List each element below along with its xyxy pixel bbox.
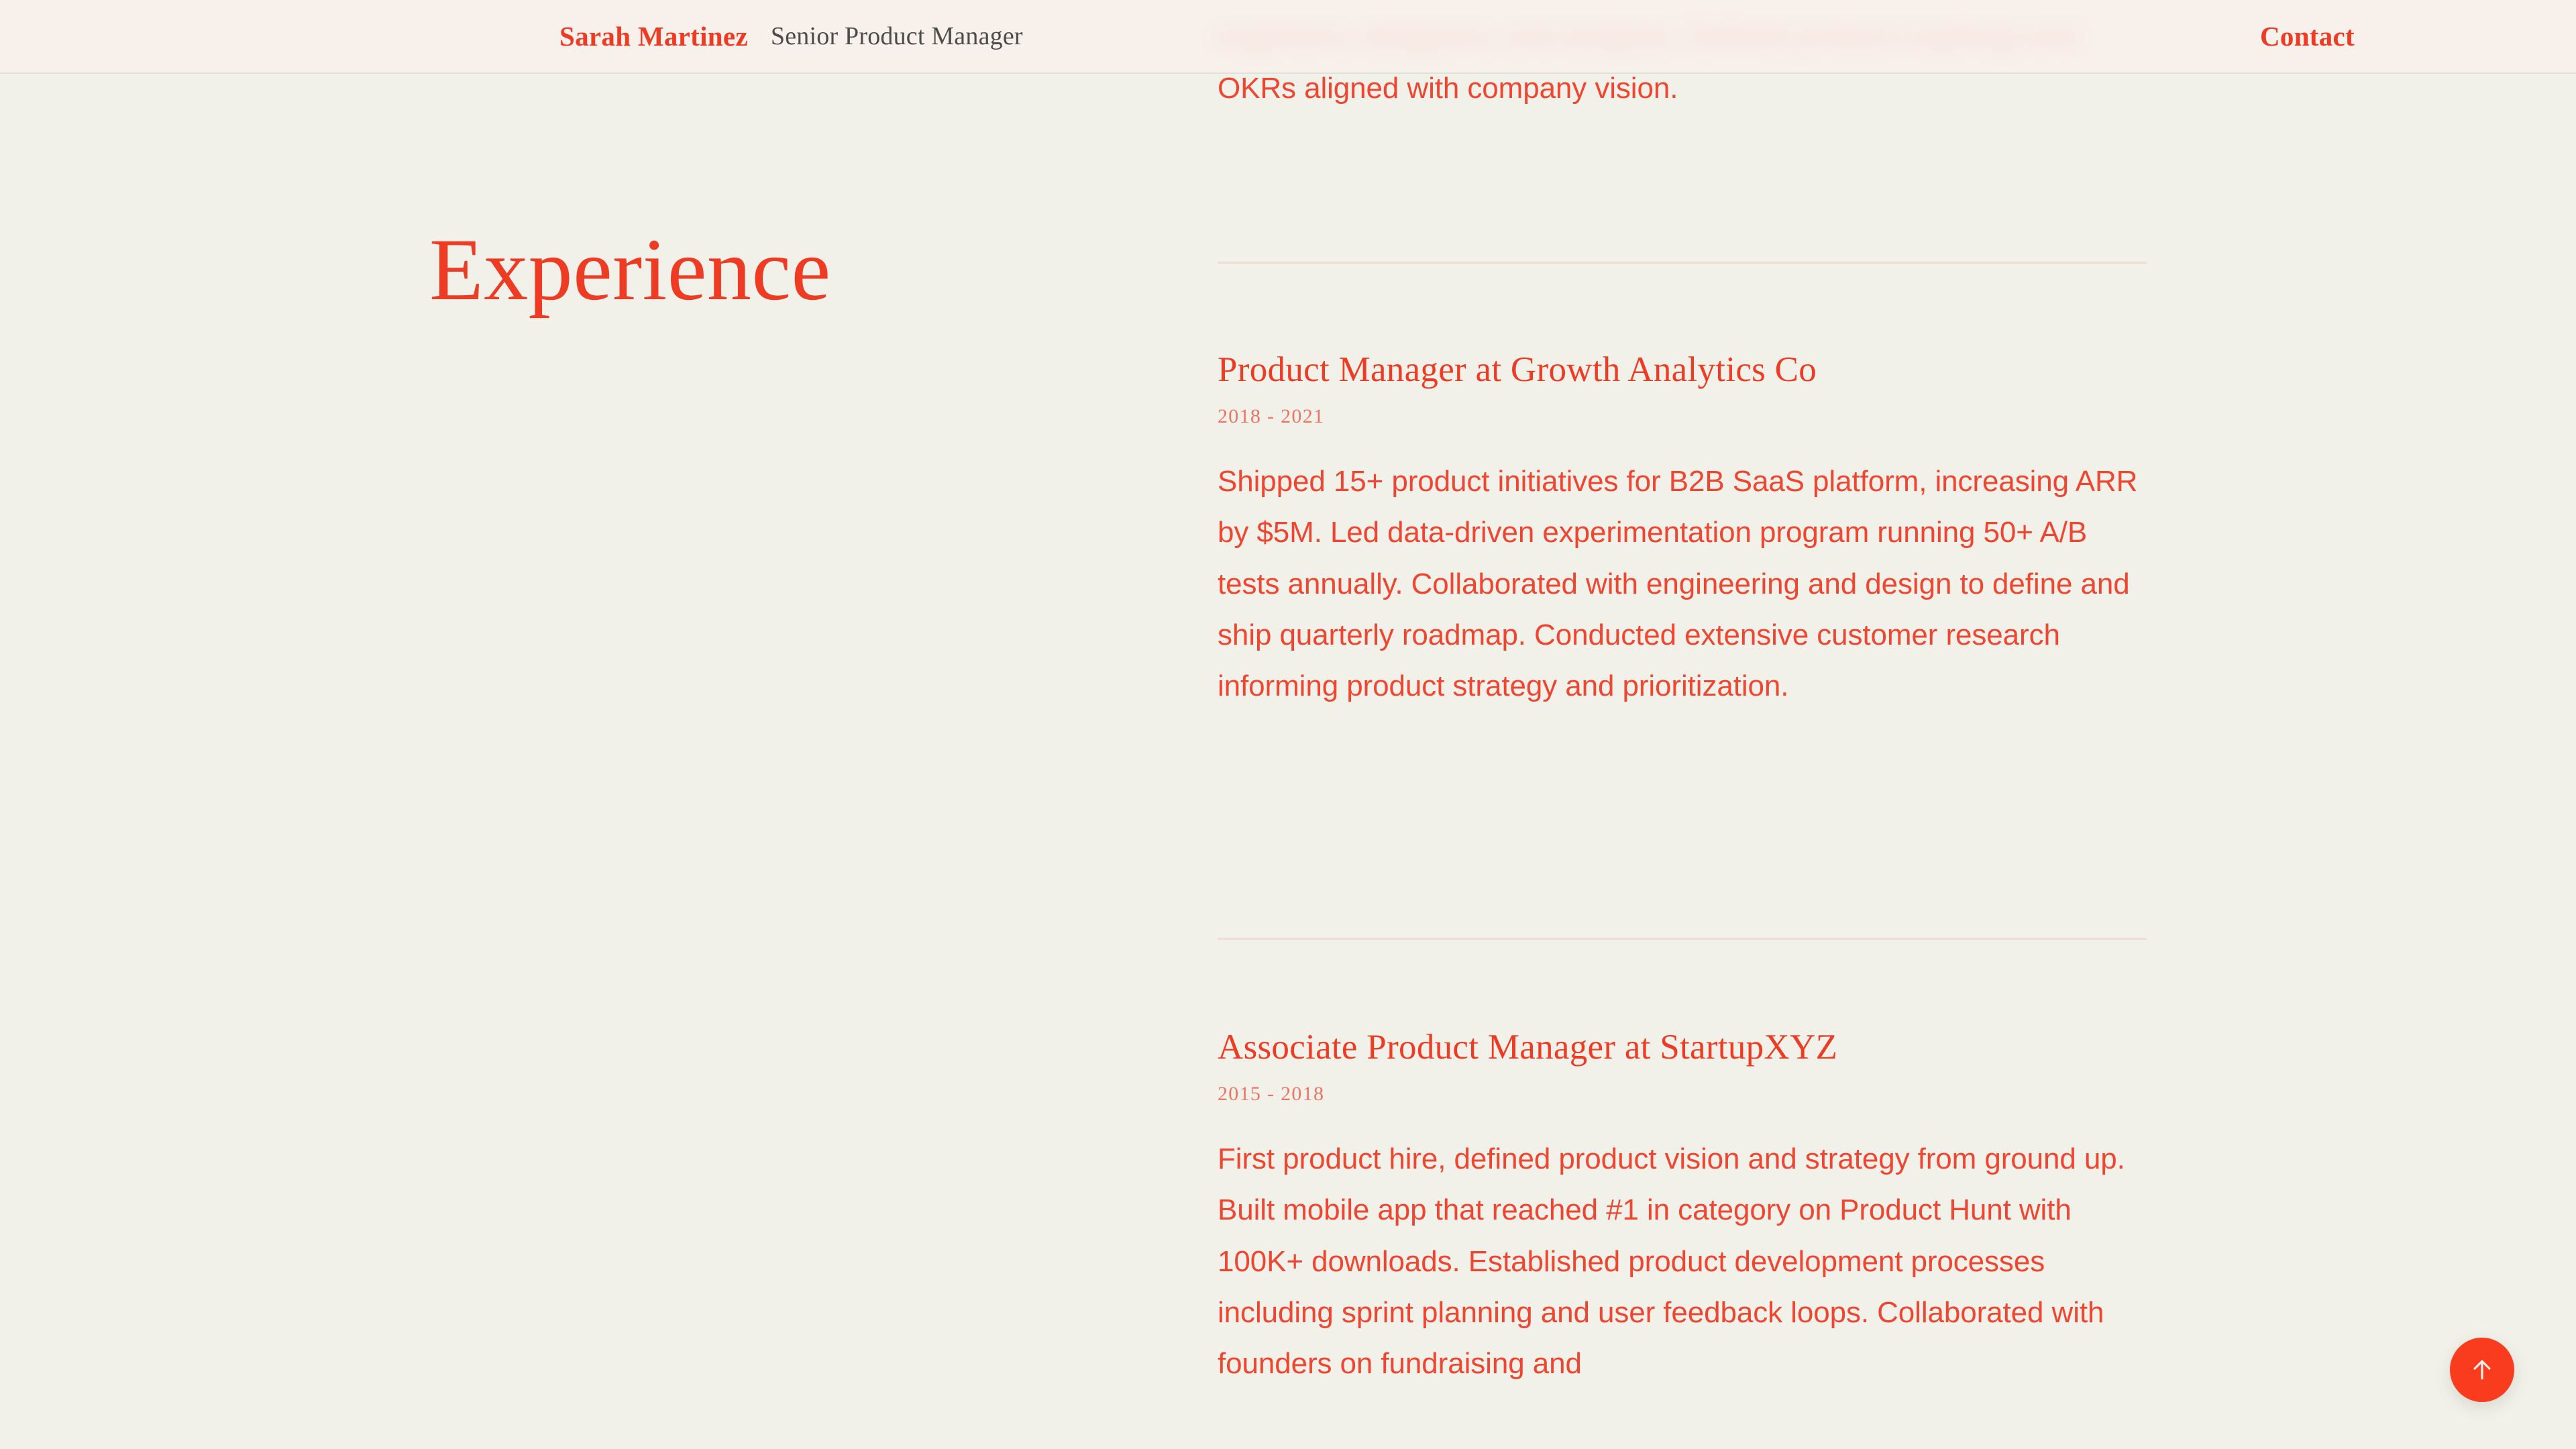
brand-name[interactable]: Sarah Martinez <box>559 20 748 52</box>
entry-description: First product hire, defined product visi… <box>1218 1134 2150 1389</box>
entry-divider <box>1218 262 2147 264</box>
header-inner: Sarah Martinez Senior Product Manager Co… <box>0 0 2576 72</box>
experience-entry: Product Manager at Growth Analytics Co 2… <box>1218 350 2150 712</box>
entry-dates: 2018 - 2021 <box>1218 405 2150 428</box>
entry-title: Product Manager at Growth Analytics Co <box>1218 350 2150 390</box>
nav-link-contact[interactable]: Contact <box>2260 20 2355 52</box>
scroll-to-top-button[interactable] <box>2450 1338 2514 1402</box>
primary-nav: Contact <box>2260 0 2355 72</box>
experience-entry: Associate Product Manager at StartupXYZ … <box>1218 1028 2150 1389</box>
entry-dates: 2015 - 2018 <box>1218 1083 2150 1106</box>
arrow-up-icon <box>2467 1355 2497 1385</box>
page-root: Experience engineers, designers, and ana… <box>0 0 2576 1449</box>
entry-divider <box>1218 938 2147 940</box>
brand-group[interactable]: Sarah Martinez Senior Product Manager <box>559 0 1023 72</box>
entry-description: Shipped 15+ product initiatives for B2B … <box>1218 456 2150 712</box>
site-header: Sarah Martinez Senior Product Manager Co… <box>0 0 2576 74</box>
page-title: Experience <box>429 225 831 314</box>
brand-role: Senior Product Manager <box>771 21 1023 51</box>
entry-title: Associate Product Manager at StartupXYZ <box>1218 1028 2150 1067</box>
